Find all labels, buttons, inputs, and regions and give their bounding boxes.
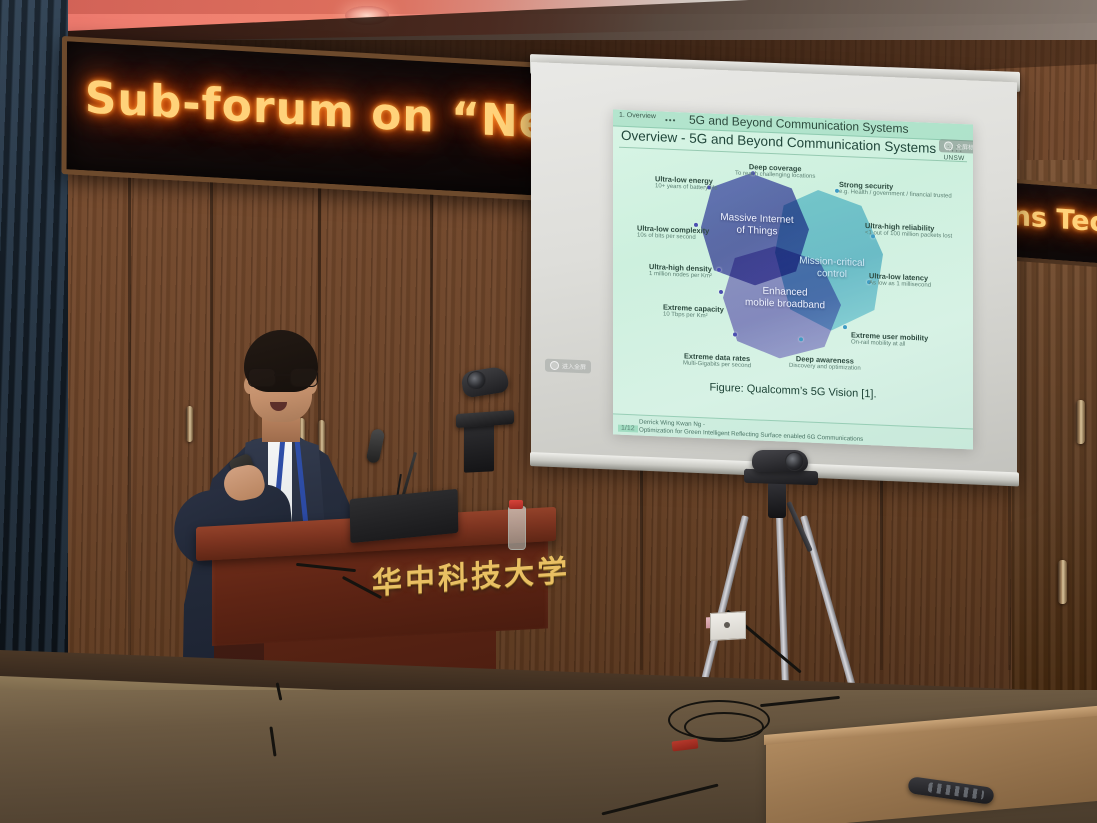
tripod-camera-lens-icon [785,452,804,471]
tripod-head [768,482,786,518]
slide-section-label: 1. Overview [619,112,656,121]
wall-seam [640,470,643,670]
led-banner-left-text: Sub-forum on “New Ger [85,72,592,157]
node-dot [719,290,723,294]
spoke-label-ultra-low-latency: Ultra-low latencyAs low as 1 millisecond [869,272,931,290]
media-player-overlay[interactable]: 进入全屏 [545,359,591,374]
wall-seam [880,470,883,670]
play-icon[interactable] [550,361,559,370]
slide-page-number: 1/12 [618,425,638,433]
node-dot [717,268,721,272]
glasses-lens-left [248,368,276,387]
slide-figure-caption: Figure: Qualcomm’s 5G Vision [1]. [613,377,973,404]
conference-photo-scene: Sub-forum on “New Ger tions Techn 1. Ove… [0,0,1097,823]
toolbar-record-icon[interactable] [944,141,953,150]
projector-toolbar-overlay[interactable]: 全屏标注 缩放 [939,139,973,155]
led-banner-left: Sub-forum on “New Ger [62,36,592,204]
spoke-label-extreme-user-mobility: Extreme user mobilityOn-rail mobility at… [851,331,928,349]
slide-tab-dots-icon: ••• [665,116,676,125]
spoke-label-deep-awareness: Deep awarenessDiscovery and optimization [789,355,861,373]
spoke-label-ultra-low-complexity: Ultra-low complexity10s of bits per seco… [637,224,709,242]
outlet-socket-icon [724,622,730,628]
glasses-bridge [274,374,290,376]
projection-screen: 1. Overview ••• 5G and Beyond Communicat… [531,62,1017,482]
water-bottle-cap [509,500,523,509]
cabinet-handle[interactable] [1058,560,1067,604]
cabinet-handle[interactable] [1076,400,1085,444]
toolbar-overlay-text: 全屏标注 缩放 [956,142,973,153]
media-player-overlay-text: 进入全屏 [562,361,586,371]
presenter-glasses [248,368,316,385]
spoke-label-extreme-data-rates: Extreme data ratesMulti-Gigabits per sec… [683,352,751,370]
node-dot [799,337,803,341]
coiled-floor-cable [684,712,764,742]
water-bottle[interactable] [508,506,526,550]
glasses-lens-right [290,368,318,387]
spoke-label-ultra-low-energy: Ultra-low energy10+ years of battery lif… [655,175,718,193]
unsw-logo-wordmark: UNSW [941,154,967,162]
projected-slide: 1. Overview ••• 5G and Beyond Communicat… [613,109,973,449]
wall-camera-mount [464,423,494,473]
node-dot [733,332,737,336]
node-dot [843,325,847,329]
spoke-label-extreme-capacity: Extreme capacity10 Tbps per Km² [663,304,724,322]
wall-seam [128,150,131,670]
spoke-label-ultra-high-density: Ultra-high density1 million nodes per Km… [649,263,712,281]
stage-curtain [0,0,68,700]
